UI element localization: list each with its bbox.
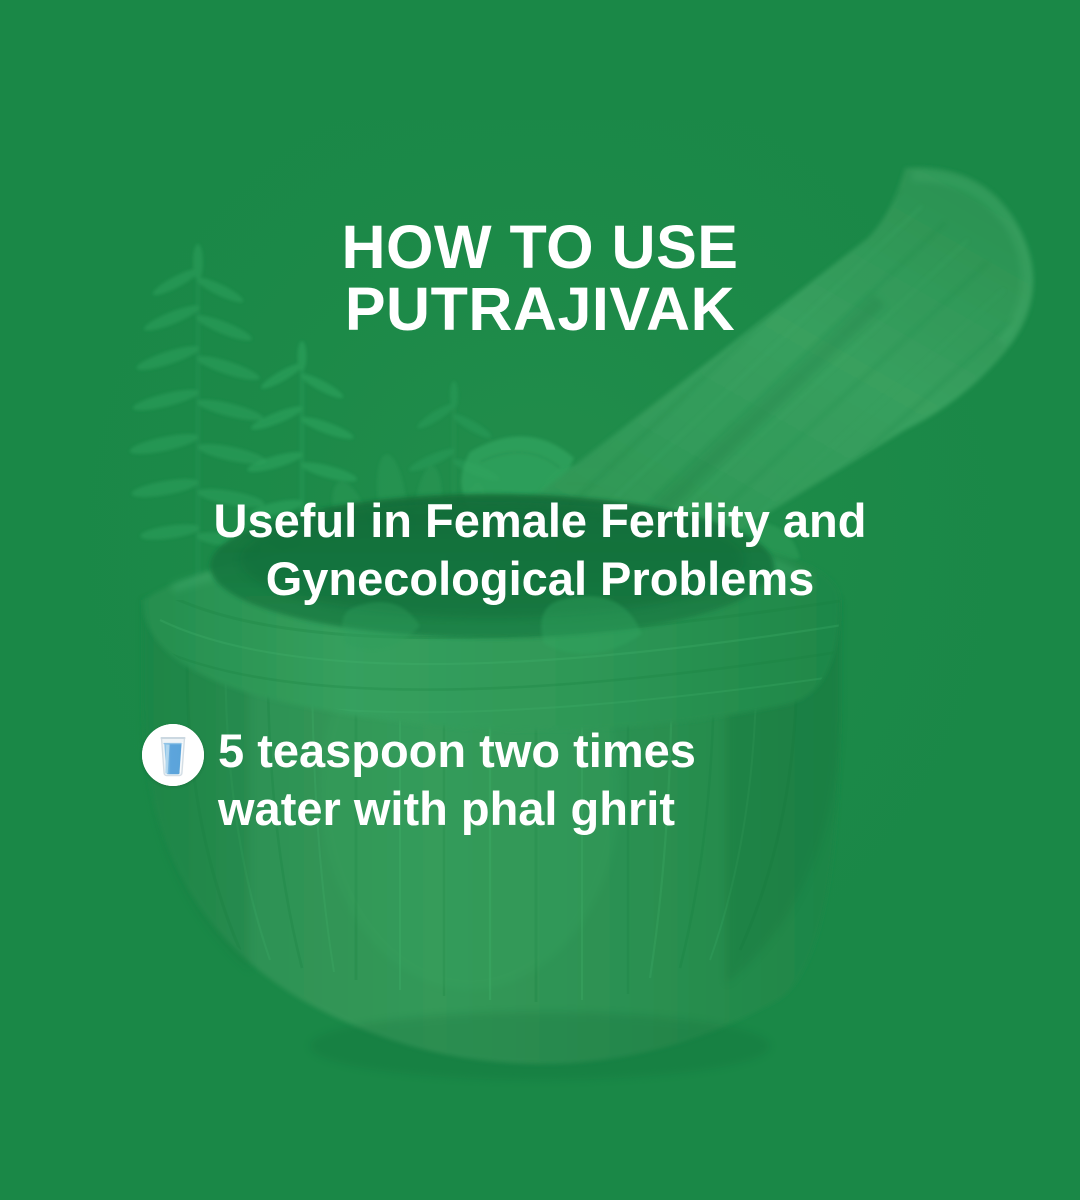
- dosage-line-2: water with phal ghrit: [218, 780, 696, 838]
- benefit-line-2: Gynecological Problems: [0, 550, 1080, 608]
- page-title: HOW TO USE PUTRAJIVAK: [0, 216, 1080, 340]
- dosage-text: 5 teaspoon two times water with phal ghr…: [218, 722, 696, 838]
- water-glass-icon: [142, 724, 204, 786]
- dosage-instruction: 5 teaspoon two times water with phal ghr…: [142, 722, 696, 838]
- benefit-statement: Useful in Female Fertility and Gynecolog…: [0, 492, 1080, 608]
- title-line-2: PUTRAJIVAK: [0, 278, 1080, 340]
- dosage-line-1: 5 teaspoon two times: [218, 722, 696, 780]
- benefit-line-1: Useful in Female Fertility and: [0, 492, 1080, 550]
- title-line-1: HOW TO USE: [0, 216, 1080, 278]
- poster-canvas: HOW TO USE PUTRAJIVAK Useful in Female F…: [0, 0, 1080, 1200]
